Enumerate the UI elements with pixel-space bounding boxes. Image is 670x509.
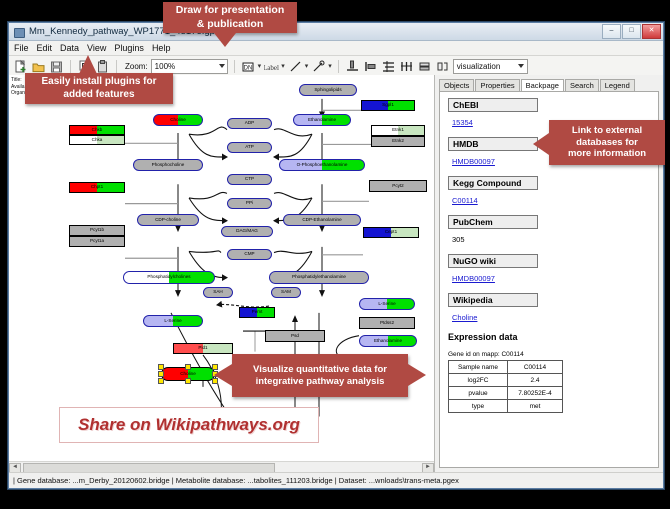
tab-label: Legend bbox=[605, 81, 630, 90]
metabolite-node[interactable]: L-Serine bbox=[359, 298, 415, 310]
node-label: Phosphatidylethanolamine bbox=[292, 275, 346, 280]
database-name: Kegg Compound bbox=[448, 176, 538, 190]
callout-links: Link to external databases for more info… bbox=[549, 120, 665, 165]
node-label: Chka bbox=[92, 138, 103, 143]
node-label: SAH bbox=[213, 290, 222, 295]
database-block: WikipediaCholine bbox=[448, 293, 658, 325]
menu-item-edit[interactable]: Edit bbox=[37, 43, 53, 53]
paste-icon[interactable] bbox=[95, 59, 110, 74]
callout-plugins-line2: added features bbox=[63, 89, 134, 100]
database-link[interactable]: HMDB00097 bbox=[452, 274, 495, 283]
table-row: log2FC2.4 bbox=[449, 374, 563, 387]
node-label: ADP bbox=[245, 121, 254, 126]
node-label: Pcyt1a bbox=[90, 239, 104, 244]
save-icon[interactable] bbox=[49, 59, 64, 74]
expression-key: log2FC bbox=[449, 374, 508, 387]
menu-bar: File Edit Data View Plugins Help bbox=[9, 41, 663, 56]
database-name: PubChem bbox=[448, 215, 538, 229]
node-label: CDP-choline bbox=[155, 218, 181, 223]
toolbar-separator bbox=[234, 60, 235, 73]
scroll-right-arrow[interactable]: ► bbox=[422, 463, 434, 472]
metabolite-node[interactable]: O-Phosphoethanolamine bbox=[279, 159, 365, 171]
node-label: Phosphocholine bbox=[152, 163, 185, 168]
menu-item-help[interactable]: Help bbox=[152, 43, 171, 53]
metabolite-node[interactable]: Phosphatidylethanolamine bbox=[269, 271, 369, 284]
expression-data-heading: Expression data bbox=[448, 332, 658, 342]
metabolite-node[interactable]: Ethanolamine bbox=[293, 114, 351, 126]
database-name: ChEBI bbox=[448, 98, 538, 112]
gene-product-node[interactable]: Pcyt2 bbox=[369, 180, 427, 192]
metabolite-node[interactable]: PPi bbox=[227, 198, 272, 209]
selection-handle[interactable] bbox=[185, 378, 191, 384]
callout-draw-pointer bbox=[214, 33, 236, 47]
node-label: Etnk2 bbox=[392, 139, 404, 144]
zoom-value: 100% bbox=[155, 62, 175, 71]
node-label: Choline bbox=[170, 118, 186, 123]
align-left-icon[interactable] bbox=[363, 59, 378, 74]
node-label: O-Phosphoethanolamine bbox=[297, 163, 348, 168]
chevron-down-icon bbox=[518, 64, 524, 68]
expression-key: Sample name bbox=[449, 361, 508, 374]
node-label: ATP bbox=[245, 145, 254, 150]
pathway-canvas[interactable]: SphingolipidsCholineEthanolamineADPATPPh… bbox=[31, 75, 434, 462]
toolbar-separator bbox=[338, 60, 339, 73]
node-label: CDP-Ethanolamine bbox=[302, 218, 341, 223]
node-label: PPi bbox=[246, 201, 253, 206]
node-label: Cept1 bbox=[385, 230, 397, 235]
gene-product-node[interactable]: Chpt1 bbox=[69, 182, 125, 193]
scroll-thumb[interactable] bbox=[23, 463, 275, 472]
share-banner: Share on Wikipathways.org bbox=[59, 407, 319, 443]
gene-product-node[interactable]: Chkb bbox=[69, 125, 125, 135]
metabolite-node[interactable]: ATP bbox=[227, 142, 272, 153]
metabolite-node[interactable]: Phosphatidylcholines bbox=[123, 271, 215, 284]
status-bar-text: | Gene database: ...m_Derby_20120602.bri… bbox=[9, 476, 459, 485]
group-icon[interactable] bbox=[435, 59, 450, 74]
callout-plugins-pointer bbox=[79, 55, 97, 74]
node-label: Chpt1 bbox=[91, 185, 103, 190]
svg-text:Label: Label bbox=[264, 64, 279, 72]
gene-product-node[interactable]: Pcyt1a bbox=[69, 236, 125, 247]
expression-value: 7.80252E-4 bbox=[508, 387, 563, 400]
svg-text:DN: DN bbox=[243, 65, 252, 71]
callout-visualize-line2: integrative pathway analysis bbox=[256, 376, 385, 387]
callout-plugins-line1: Easily install plugins for bbox=[41, 76, 156, 87]
database-value: 305 bbox=[452, 235, 465, 244]
node-label: Ethanolamine bbox=[374, 339, 402, 344]
node-label: L-Serine bbox=[164, 319, 181, 324]
metabolite-node[interactable]: Choline bbox=[153, 114, 203, 126]
selection-handle[interactable] bbox=[185, 364, 191, 370]
tab-objects[interactable]: Objects bbox=[439, 79, 474, 91]
node-label: CMP bbox=[244, 252, 254, 257]
anchor-dropdown-icon[interactable]: ▾ bbox=[328, 62, 332, 70]
node-label: Choline bbox=[180, 372, 196, 377]
selection-handle[interactable] bbox=[158, 364, 164, 370]
database-name: HMDB bbox=[448, 137, 538, 151]
metabolite-node[interactable]: CMP bbox=[227, 249, 272, 260]
menu-item-view[interactable]: View bbox=[87, 43, 106, 53]
expression-value: 2.4 bbox=[508, 374, 563, 387]
title-bar: Mm_Kennedy_pathway_WP1771_45176.gpml – □… bbox=[9, 23, 663, 41]
database-block: PubChem305 bbox=[448, 215, 658, 247]
callout-plugins: Easily install plugins for added feature… bbox=[25, 73, 173, 104]
callout-draw: Draw for presentation & publication bbox=[163, 2, 297, 33]
table-row: typemet bbox=[449, 400, 563, 413]
node-label: Etnk1 bbox=[392, 128, 404, 133]
metabolite-node[interactable]: CDP-Ethanolamine bbox=[283, 214, 361, 226]
database-name: NuGO wiki bbox=[448, 254, 538, 268]
callout-links-line2: databases for bbox=[576, 137, 638, 148]
tab-label: Search bbox=[570, 81, 594, 90]
menu-item-data[interactable]: Data bbox=[60, 43, 79, 53]
callout-draw-line2: & publication bbox=[197, 18, 264, 30]
database-block: NuGO wikiHMDB00097 bbox=[448, 254, 658, 286]
node-label: Pemt bbox=[252, 310, 263, 315]
callout-visualize-line1: Visualize quantitative data for bbox=[253, 364, 387, 375]
datanode-dropdown-icon[interactable]: ▾ bbox=[258, 62, 262, 70]
node-label: L-Serine bbox=[378, 302, 395, 307]
node-label: Phosphatidylcholines bbox=[147, 275, 190, 280]
gene-product-node[interactable]: Pemt bbox=[239, 307, 275, 318]
tab-properties[interactable]: Properties bbox=[475, 79, 519, 91]
app-root: Mm_Kennedy_pathway_WP1771_45176.gpml – □… bbox=[0, 0, 670, 509]
share-banner-text: Share on Wikipathways.org bbox=[78, 415, 300, 435]
menu-item-plugins[interactable]: Plugins bbox=[114, 43, 144, 53]
node-label: Pcyt2 bbox=[392, 184, 404, 189]
pathway-editor-pane[interactable]: Title: Availa Organ bbox=[9, 75, 435, 472]
chevron-down-icon bbox=[219, 64, 225, 68]
metabolite-node[interactable]: L-Serine bbox=[143, 315, 203, 327]
database-link[interactable]: Choline bbox=[452, 313, 477, 322]
callout-links-pointer bbox=[533, 133, 549, 155]
expression-key: pvalue bbox=[449, 387, 508, 400]
gene-id-line: Gene id on mapp: C00114 bbox=[448, 351, 658, 358]
callout-links-line1: Link to external bbox=[572, 125, 642, 136]
database-block: Kegg CompoundC00114 bbox=[448, 176, 658, 208]
node-label: DAG/MAG bbox=[236, 229, 258, 234]
database-link[interactable]: HMDB00097 bbox=[452, 157, 495, 166]
gene-product-node[interactable]: Cept1 bbox=[363, 227, 419, 238]
app-icon bbox=[13, 26, 25, 38]
menu-item-file[interactable]: File bbox=[14, 43, 29, 53]
expression-value: C00114 bbox=[508, 361, 563, 374]
metabolite-node[interactable]: SAH bbox=[203, 287, 233, 298]
callout-draw-line1: Draw for presentation bbox=[176, 4, 285, 16]
label-dropdown-icon[interactable]: ▾ bbox=[281, 62, 285, 70]
database-link[interactable]: 15354 bbox=[452, 118, 473, 127]
toolbar-separator bbox=[116, 60, 117, 73]
line-icon[interactable] bbox=[288, 59, 303, 74]
tab-label: Backpage bbox=[526, 81, 559, 90]
gene-product-node[interactable]: Ptdss2 bbox=[359, 317, 415, 329]
expression-table: Sample nameC00114log2FC2.4pvalue7.80252E… bbox=[448, 360, 563, 413]
canvas-hscrollbar[interactable]: ◄ ► bbox=[9, 461, 434, 472]
gene-product-node[interactable]: Sgpl1 bbox=[361, 100, 415, 111]
metabolite-node[interactable]: Phosphocholine bbox=[133, 159, 203, 171]
table-row: Sample nameC00114 bbox=[449, 361, 563, 374]
selection-handle[interactable] bbox=[158, 371, 164, 377]
metabolite-node[interactable]: ADP bbox=[227, 118, 272, 129]
metabolite-node[interactable]: Ethanolamine bbox=[359, 335, 417, 347]
callout-visualize-pointer-right bbox=[408, 364, 426, 386]
stack-icon[interactable] bbox=[417, 59, 432, 74]
window-controls: – □ ✕ bbox=[601, 24, 661, 39]
visualization-value: visualization bbox=[457, 62, 501, 71]
datanode-icon[interactable]: DN bbox=[241, 59, 256, 74]
metabolite-node[interactable]: DAG/MAG bbox=[221, 226, 273, 237]
gene-product-node[interactable]: Chka bbox=[69, 135, 125, 145]
open-folder-icon[interactable] bbox=[31, 59, 46, 74]
node-label: Pld1 bbox=[198, 346, 207, 351]
pathway-info-block: Title: Availa Organ bbox=[11, 77, 25, 97]
gene-product-node[interactable]: Pcyt1b bbox=[69, 225, 125, 236]
metabolite-node[interactable]: CDP-choline bbox=[137, 214, 199, 226]
node-label: Sgpl1 bbox=[382, 103, 394, 108]
gene-product-node[interactable]: Etnk2 bbox=[371, 136, 425, 147]
metabolite-node[interactable]: Sphingolipids bbox=[299, 84, 357, 96]
anchor-line-icon[interactable] bbox=[311, 59, 326, 74]
gene-product-node[interactable]: Psd bbox=[265, 330, 325, 342]
node-label: Ptdss2 bbox=[380, 321, 394, 326]
close-button[interactable]: ✕ bbox=[642, 24, 661, 39]
callout-links-line3: more information bbox=[568, 148, 646, 159]
visualization-combobox[interactable]: visualization bbox=[453, 59, 528, 74]
label-icon[interactable]: Label bbox=[264, 59, 279, 74]
distribute-vertical-icon[interactable] bbox=[381, 59, 396, 74]
info-line-organism: Organ bbox=[11, 90, 25, 97]
node-label: Pcyt1b bbox=[90, 228, 104, 233]
node-label: Psd bbox=[291, 334, 299, 339]
node-label: Ethanolamine bbox=[308, 118, 336, 123]
minimize-button[interactable]: – bbox=[602, 24, 621, 39]
gene-product-node[interactable]: Etnk1 bbox=[371, 125, 425, 136]
expression-key: type bbox=[449, 400, 508, 413]
database-link[interactable]: C00114 bbox=[452, 196, 478, 205]
tab-label: Properties bbox=[480, 81, 514, 90]
node-label: Chkb bbox=[92, 128, 103, 133]
zoom-combobox[interactable]: 100% bbox=[151, 59, 228, 74]
database-name: Wikipedia bbox=[448, 293, 538, 307]
tab-search[interactable]: Search bbox=[565, 79, 599, 91]
callout-visualize-pointer-left bbox=[214, 364, 232, 386]
expression-value: met bbox=[508, 400, 563, 413]
callout-visualize: Visualize quantitative data for integrat… bbox=[232, 354, 408, 397]
line-dropdown-icon[interactable]: ▾ bbox=[305, 62, 309, 70]
node-label: CTP bbox=[245, 177, 254, 182]
node-label: Sphingolipids bbox=[314, 88, 341, 93]
table-row: pvalue7.80252E-4 bbox=[449, 387, 563, 400]
new-file-icon[interactable] bbox=[13, 59, 28, 74]
gene-product-node[interactable]: Pld1 bbox=[173, 343, 233, 354]
metabolite-node[interactable]: SAM bbox=[271, 287, 301, 298]
toolbar-separator bbox=[70, 60, 71, 73]
distribute-horizontal-icon[interactable] bbox=[399, 59, 414, 74]
canvas-left-gutter: Title: Availa Organ bbox=[9, 75, 31, 462]
scroll-left-arrow[interactable]: ◄ bbox=[9, 463, 21, 472]
tab-legend[interactable]: Legend bbox=[600, 79, 635, 91]
align-bottom-icon[interactable] bbox=[345, 59, 360, 74]
maximize-button[interactable]: □ bbox=[622, 24, 641, 39]
tab-label: Objects bbox=[444, 81, 469, 90]
metabolite-node[interactable]: CTP bbox=[227, 174, 272, 185]
zoom-label: Zoom: bbox=[125, 62, 148, 71]
node-label: SAM bbox=[281, 290, 291, 295]
selection-handle[interactable] bbox=[158, 378, 164, 384]
status-bar: | Gene database: ...m_Derby_20120602.bri… bbox=[9, 472, 663, 488]
